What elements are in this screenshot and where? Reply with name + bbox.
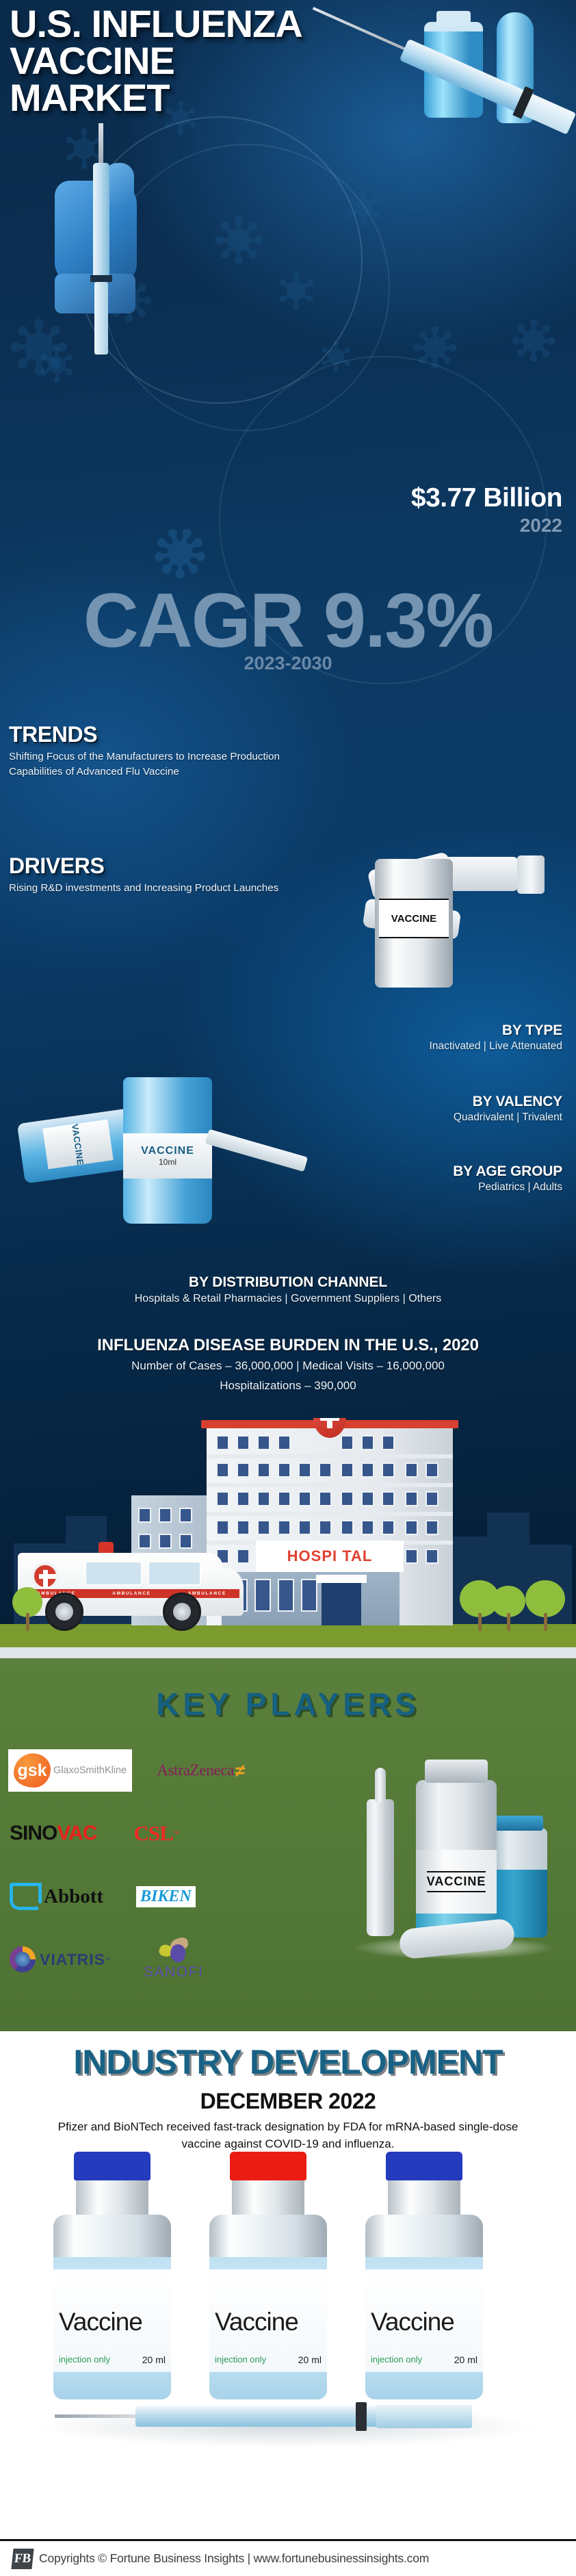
segment-by-valency-values: Quadrivalent | Trivalent [454,1111,562,1124]
virus-decoration-icon [157,530,202,576]
logo-sanofi[interactable]: SANOFI [144,1938,203,1981]
road-strip [0,1647,576,1658]
viatris-wordmark: VIATRIS [40,1950,105,1969]
key-players-logo-grid: gsk GlaxoSmithKline AstraZeneca ≠ SINO V… [5,1739,327,1991]
sinovac-wordmark-part2: VAC [57,1822,96,1845]
industry-development-date: DECEMBER 2022 [0,2089,576,2114]
biken-wordmark: BIKEN [136,1886,196,1907]
tree-icon [525,1580,565,1631]
tree-icon [491,1586,525,1631]
logo-viatris[interactable]: VIATRIS™ [10,1946,111,1972]
main-vaccine-vial: VACCINE [416,1780,497,1939]
bottom-vial-1: Vaccine injection only 20 ml [53,2175,171,2399]
disease-burden-heading: INFLUENZA DISEASE BURDEN IN THE U.S., 20… [0,1336,576,1355]
key-players-title: KEY PLAYERS [0,1686,576,1723]
ambulance-label: AMBULANCE [112,1591,150,1596]
segment-by-valency-heading: BY VALENCY [454,1094,562,1110]
ambulance-wheel [163,1593,201,1631]
virus-decoration-icon [41,349,73,381]
segment-by-valency: BY VALENCY Quadrivalent | Trivalent [454,1094,562,1124]
virus-decoration-icon [514,322,553,360]
bottom-vial-2-volume: 20 ml [298,2354,322,2365]
key-players-vaccine-illustration: VACCINE [339,1734,565,1959]
sanofi-mark-icon [158,1938,189,1963]
hospital-door-awning [316,1575,367,1583]
segment-by-age-group: BY AGE GROUP Pediatrics | Adults [453,1163,562,1194]
segment-by-distribution-channel: BY DISTRIBUTION CHANNEL Hospitals & Reta… [0,1274,576,1305]
astrazeneca-mark-icon: ≠ [234,1760,247,1781]
footer: FB Copyrights © Fortune Business Insight… [0,2539,576,2576]
bottom-vial-2-name: Vaccine [215,2308,298,2336]
bottom-vial-2-injection: injection only [215,2354,266,2365]
title-line-1: U.S. INFLUENZA [10,5,393,42]
bottom-vial-3: Vaccine injection only 20 ml [365,2175,483,2399]
vial-cap-1 [74,2152,150,2180]
sanofi-wordmark: SANOFI [144,1964,203,1981]
industry-development-title: INDUSTRY DEVELOPMENT [0,2042,576,2082]
bottom-syringe-illustration [55,2401,493,2432]
vial-cap-2 [230,2152,306,2180]
csl-wordmark: CSL [133,1821,172,1846]
ambulance-wheel [45,1593,83,1631]
logo-row: Abbott BIKEN [5,1865,327,1928]
ambulance: AMBULANCE AMBULANCE AMBULANCE [18,1534,244,1631]
drivers-heading: DRIVERS [9,853,310,879]
key-players-section: KEY PLAYERS gsk GlaxoSmithKline AstraZen… [0,1658,576,2031]
ampoule-standing [367,1799,394,1936]
hospital-main-tower: HOSPI TAL [207,1427,453,1625]
bottom-vial-3-name: Vaccine [371,2308,454,2336]
ambulance-window [85,1561,142,1586]
trends-body: Shifting Focus of the Manufacturers to I… [9,749,310,779]
bottom-vial-3-injection: injection only [371,2354,422,2365]
vial-cap-3 [386,2152,462,2180]
gsk-wordmark: GlaxoSmithKline [53,1765,127,1776]
vial-center-volume: 10ml [159,1157,176,1167]
disease-burden-block: INFLUENZA DISEASE BURDEN IN THE U.S., 20… [0,1336,576,1394]
page-title: U.S. INFLUENZA VACCINE MARKET [10,5,393,116]
segment-by-age-group-values: Pediatrics | Adults [453,1181,562,1194]
vial-center-label: VACCINE [141,1145,194,1157]
footer-copyright-text: Copyrights © Fortune Business Insights |… [39,2551,429,2566]
industry-development-description: Pfizer and BioNTech received fast-track … [41,2119,535,2152]
cagr-value: CAGR 9.3% [0,585,576,656]
abbott-wordmark: Abbott [44,1885,103,1908]
ambulance-label: AMBULANCE [188,1591,226,1596]
ambulance-window [148,1561,201,1586]
market-value-block: $3.77 Billion 2022 [411,483,562,537]
logo-gsk[interactable]: gsk GlaxoSmithKline [8,1749,132,1792]
hospital-scene: HOSPI TAL AMBULANCE AMBULANCE [0,1418,576,1658]
hospital-door [322,1583,361,1625]
market-value-year: 2022 [411,515,562,537]
industry-development-section: INDUSTRY DEVELOPMENT DECEMBER 2022 Pfize… [0,2031,576,2539]
ambulance-siren-light-icon [99,1542,114,1553]
segment-by-age-group-heading: BY AGE GROUP [453,1163,562,1180]
bottom-vial-1-name: Vaccine [59,2308,142,2336]
logo-row: SINO VAC CSL™ [5,1802,327,1865]
drivers-body: Rising R&D investments and Increasing Pr… [9,881,310,896]
tree-icon [12,1587,42,1631]
logo-abbott[interactable]: Abbott [10,1883,103,1910]
hero-section: U.S. INFLUENZA VACCINE MARKET $3.77 Bill… [0,0,576,1658]
logo-astrazeneca[interactable]: AstraZeneca ≠ [157,1760,245,1781]
trends-heading: TRENDS [9,722,310,747]
viatris-mark-icon [10,1946,36,1972]
hospital-entrance-base [222,1572,400,1625]
sinovac-wordmark-part1: SINO [10,1822,57,1845]
vaccine-vial-label: VACCINE [427,1871,486,1892]
logo-row: VIATRIS™ SANOFI [5,1928,327,1991]
drivers-block: DRIVERS Rising R&D investments and Incre… [9,853,310,896]
bottom-vial-1-injection: injection only [59,2354,110,2365]
hospital-building: HOSPI TAL [207,1427,453,1625]
bottom-vial-3-volume: 20 ml [454,2354,477,2365]
trends-block: TRENDS Shifting Focus of the Manufacture… [9,722,310,779]
title-line-2: VACCINE [10,42,393,79]
logo-row: gsk GlaxoSmithKline AstraZeneca ≠ [5,1739,327,1802]
bottom-vials-illustration: Vaccine injection only 20 ml Vaccine inj… [0,2153,576,2447]
logo-sinovac[interactable]: SINO VAC [10,1822,96,1845]
disease-burden-line-2: Hospitalizations – 390,000 [0,1377,576,1395]
disease-burden-line-1: Number of Cases – 36,000,000 | Medical V… [0,1357,576,1375]
vial-label-text: VACCINE [379,899,449,938]
title-line-3: MARKET [10,79,393,116]
vial-rotated-label: VACCINE [70,1123,86,1166]
vaccine-vial-large-illustration: VACCINE [369,859,458,989]
segment-by-distribution-values: Hospitals & Retail Pharmacies | Governme… [0,1293,576,1305]
segment-by-distribution-heading: BY DISTRIBUTION CHANNEL [0,1274,576,1291]
fortune-business-insights-logo: FB [11,2549,34,2569]
cagr-block: CAGR 9.3% 2023-2030 [0,585,576,674]
vaccine-group-center-illustration: VACCINE VACCINE 10ml [21,1068,315,1239]
segment-by-type-values: Inactivated | Live Attenuated [430,1040,562,1053]
syringe-illustration [82,123,123,370]
market-value-amount: $3.77 Billion [411,483,562,513]
segment-by-type-heading: BY TYPE [430,1022,562,1039]
bottom-vial-2: Vaccine injection only 20 ml [209,2175,327,2399]
segment-by-type: BY TYPE Inactivated | Live Attenuated [430,1022,562,1053]
logo-biken[interactable]: BIKEN [136,1886,196,1907]
hospital-sign: HOSPI TAL [256,1541,404,1572]
ambulance-cross-icon [31,1562,59,1590]
gsk-mark-icon: gsk [14,1753,51,1788]
astrazeneca-wordmark: AstraZeneca [157,1762,234,1779]
logo-csl[interactable]: CSL™ [133,1821,179,1846]
bottom-vial-1-volume: 20 ml [142,2354,166,2365]
abbott-mark-icon [10,1883,38,1910]
